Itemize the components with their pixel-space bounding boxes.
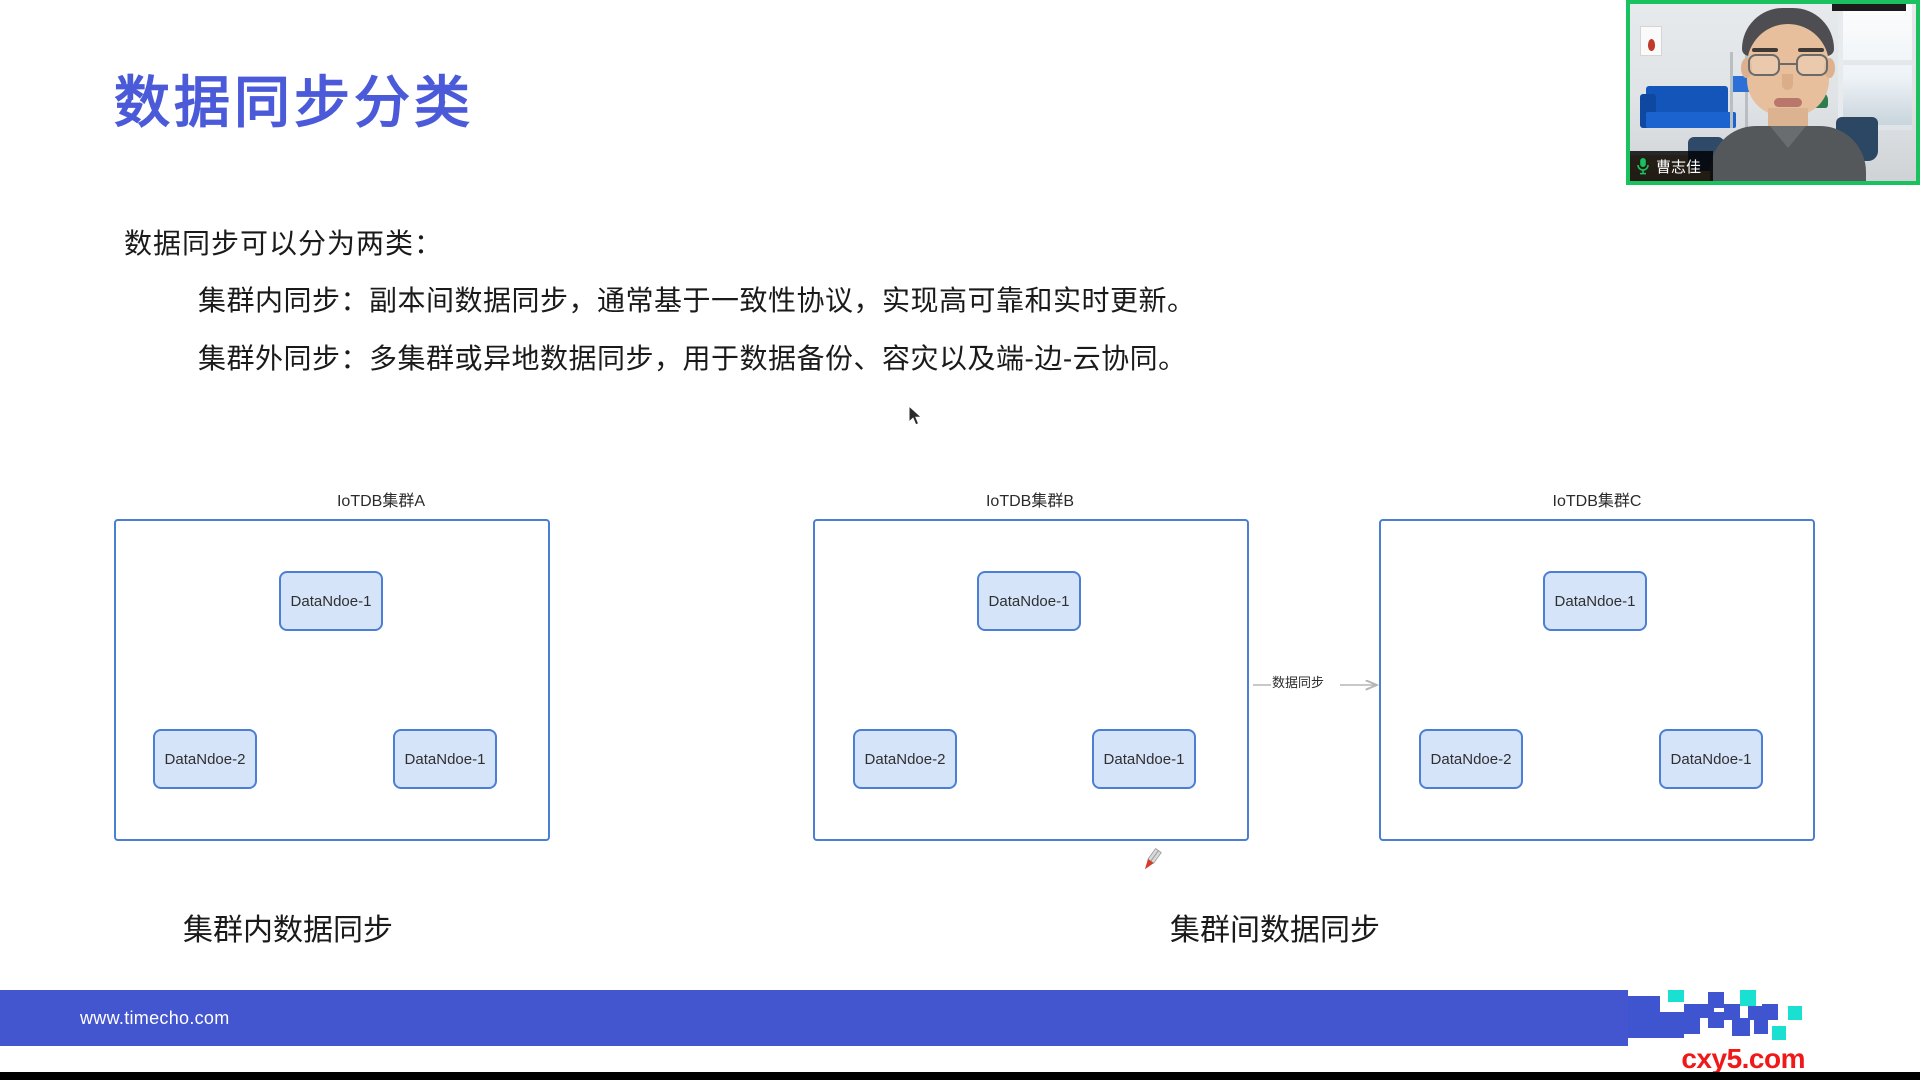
cluster-a-node-bottom-right: DataNdoe-1 bbox=[393, 729, 497, 789]
footer-url: www.timecho.com bbox=[80, 1008, 230, 1029]
webcam-top-strip bbox=[1832, 4, 1906, 11]
site-watermark: cxy5.com bbox=[1681, 1043, 1805, 1075]
cluster-a-node-bottom-left: DataNdoe-2 bbox=[153, 729, 257, 789]
cluster-c-node-top: DataNdoe-1 bbox=[1543, 571, 1647, 631]
cluster-b-boundary bbox=[813, 519, 1249, 841]
cluster-a-boundary bbox=[114, 519, 550, 841]
body-paragraph-intro: 数据同步可以分为两类： bbox=[124, 222, 443, 262]
sync-arrow-label: 数据同步 bbox=[1272, 672, 1324, 691]
cluster-c-caption: IoTDB集群C bbox=[1497, 487, 1697, 511]
cluster-b-node-top: DataNdoe-1 bbox=[977, 571, 1081, 631]
cluster-b-node-bottom-left: DataNdoe-2 bbox=[853, 729, 957, 789]
cluster-b-node-bottom-right: DataNdoe-1 bbox=[1092, 729, 1196, 789]
cluster-c-node-bottom-left: DataNdoe-2 bbox=[1419, 729, 1523, 789]
footer-bar bbox=[0, 990, 1628, 1046]
cluster-a-caption: IoTDB集群A bbox=[281, 487, 481, 511]
cluster-c-node-bottom-right: DataNdoe-1 bbox=[1659, 729, 1763, 789]
red-pen-annotation-icon bbox=[1139, 847, 1163, 873]
page-title: 数据同步分类 bbox=[114, 58, 474, 139]
section-caption-intra-cluster: 集群内数据同步 bbox=[183, 905, 393, 949]
cluster-b-caption: IoTDB集群B bbox=[930, 487, 1130, 511]
cluster-c-boundary bbox=[1379, 519, 1815, 841]
section-caption-inter-cluster: 集群间数据同步 bbox=[1170, 905, 1380, 949]
cluster-a-node-top: DataNdoe-1 bbox=[279, 571, 383, 631]
body-paragraph-intra-cluster: 集群内同步：副本间数据同步，通常基于一致性协议，实现高可靠和实时更新。 bbox=[198, 279, 1196, 319]
body-paragraph-inter-cluster: 集群外同步：多集群或异地数据同步，用于数据备份、容灾以及端-边-云协同。 bbox=[198, 337, 1187, 377]
webcam-video-tile[interactable]: 曹志佳 bbox=[1626, 0, 1920, 185]
microphone-icon bbox=[1636, 157, 1650, 175]
presentation-slide: 数据同步分类 数据同步可以分为两类： 集群内同步：副本间数据同步，通常基于一致性… bbox=[0, 0, 1920, 1080]
webcam-name-tag: 曹志佳 bbox=[1630, 151, 1713, 181]
participant-name: 曹志佳 bbox=[1656, 156, 1701, 177]
screen-bottom-edge bbox=[0, 1072, 1920, 1080]
mouse-pointer-icon bbox=[908, 405, 924, 427]
